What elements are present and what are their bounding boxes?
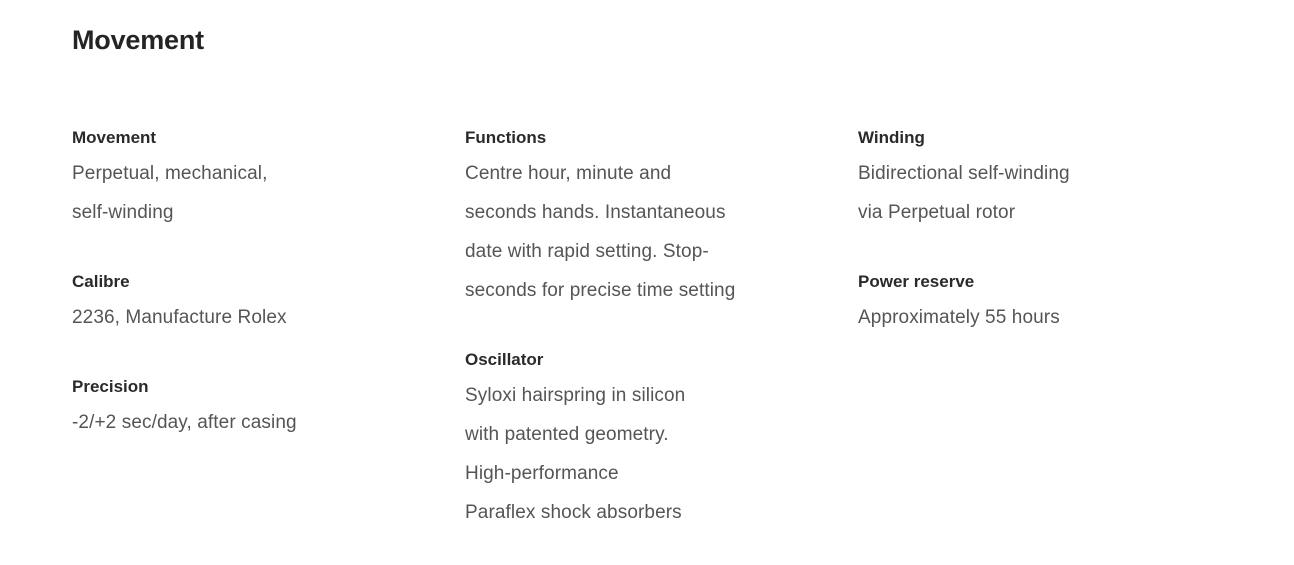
spec-value-calibre: 2236, Manufacture Rolex: [72, 298, 440, 337]
spec-label-power-reserve: Power reserve: [858, 270, 1226, 294]
spec-block-power-reserve: Power reserve Approximately 55 hours: [858, 270, 1226, 337]
spec-label-movement: Movement: [72, 126, 440, 150]
spec-block-movement: Movement Perpetual, mechanical, self-win…: [72, 126, 440, 232]
spec-column-2: Functions Centre hour, minute and second…: [465, 126, 858, 532]
spec-block-oscillator: Oscillator Syloxi hairspring in silicon …: [465, 348, 833, 532]
spec-label-oscillator: Oscillator: [465, 348, 833, 372]
spec-column-1: Movement Perpetual, mechanical, self-win…: [72, 126, 465, 442]
page-title: Movement: [72, 24, 204, 56]
spec-value-precision: -2/+2 sec/day, after casing: [72, 403, 440, 442]
spec-value-winding: Bidirectional self-winding via Perpetual…: [858, 154, 1226, 232]
spec-block-calibre: Calibre 2236, Manufacture Rolex: [72, 270, 440, 337]
spec-label-precision: Precision: [72, 375, 440, 399]
spec-block-precision: Precision -2/+2 sec/day, after casing: [72, 375, 440, 442]
spec-block-winding: Winding Bidirectional self-winding via P…: [858, 126, 1226, 232]
spec-block-functions: Functions Centre hour, minute and second…: [465, 126, 833, 310]
movement-specifications-panel: Movement Movement Perpetual, mechanical,…: [0, 0, 1294, 565]
spec-value-oscillator: Syloxi hairspring in silicon with patent…: [465, 376, 833, 532]
spec-columns: Movement Perpetual, mechanical, self-win…: [72, 126, 1252, 532]
spec-value-movement: Perpetual, mechanical, self-winding: [72, 154, 440, 232]
spec-label-winding: Winding: [858, 126, 1226, 150]
spec-label-calibre: Calibre: [72, 270, 440, 294]
spec-value-functions: Centre hour, minute and seconds hands. I…: [465, 154, 833, 310]
spec-label-functions: Functions: [465, 126, 833, 150]
spec-column-3: Winding Bidirectional self-winding via P…: [858, 126, 1251, 337]
spec-value-power-reserve: Approximately 55 hours: [858, 298, 1226, 337]
